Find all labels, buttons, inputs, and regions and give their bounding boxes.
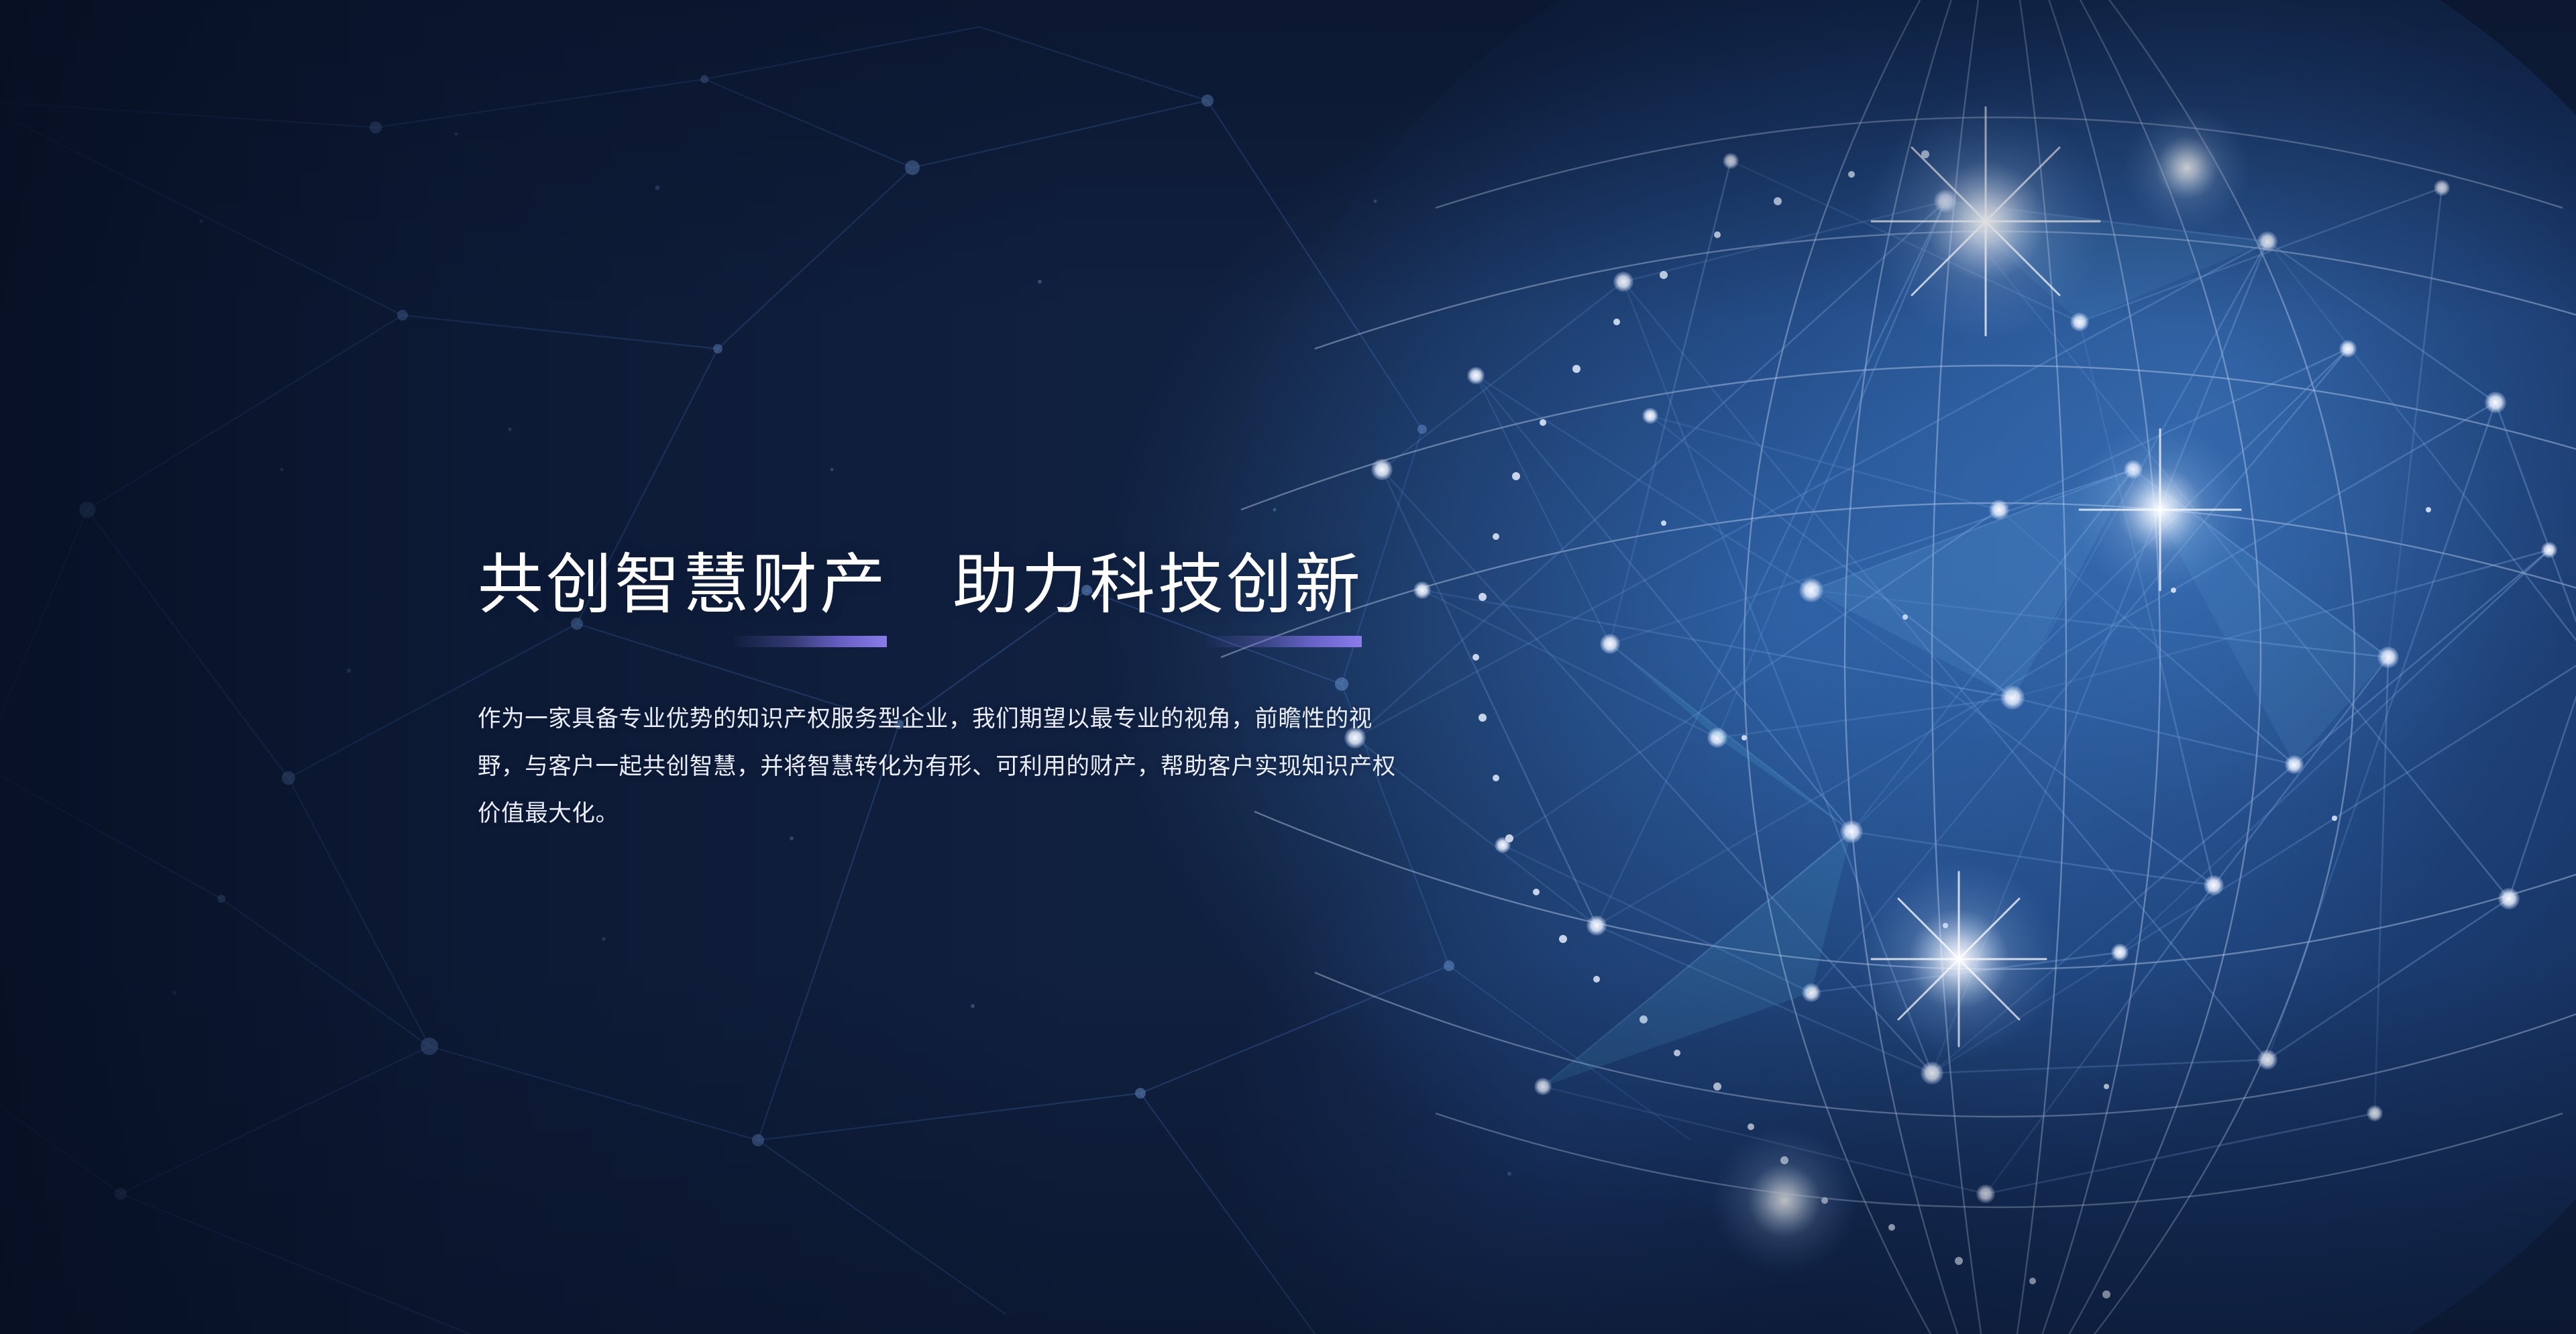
banner-content: 共创智慧财产 助力科技创新 作为一家具备专业优势的知识产权服务型企业，我们期望以… bbox=[478, 550, 1430, 838]
headline-segment-1: 共创智慧财产 bbox=[478, 550, 888, 619]
headline-segment-1-text: 共创智慧财产 bbox=[478, 547, 888, 621]
body-copy: 作为一家具备专业优势的知识产权服务型企业，我们期望以最专业的视角，前瞻性的视野，… bbox=[478, 696, 1415, 838]
headline: 共创智慧财产 助力科技创新 bbox=[478, 550, 1430, 619]
headline-accent-bar-1 bbox=[734, 636, 887, 647]
headline-accent-bar-2 bbox=[1206, 636, 1362, 647]
banner-stage: 共创智慧财产 助力科技创新 作为一家具备专业优势的知识产权服务型企业，我们期望以… bbox=[0, 0, 2576, 1334]
headline-segment-2-text: 助力科技创新 bbox=[953, 547, 1363, 621]
headline-segment-2: 助力科技创新 bbox=[953, 550, 1363, 619]
body-copy-text: 作为一家具备专业优势的知识产权服务型企业，我们期望以最专业的视角，前瞻性的视野，… bbox=[478, 696, 1415, 838]
